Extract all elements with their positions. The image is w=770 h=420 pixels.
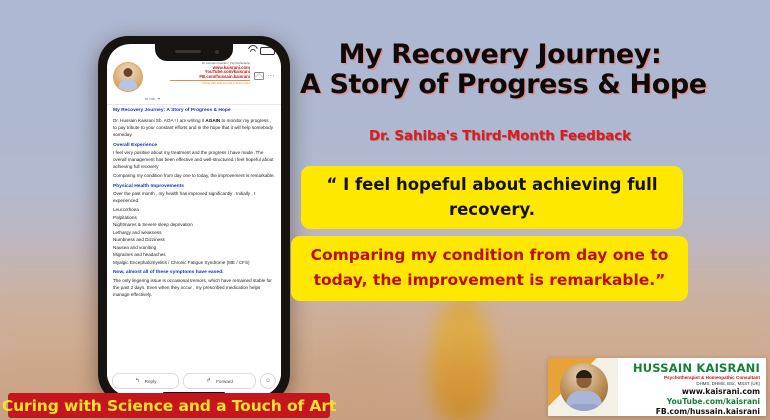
- page-title: My Recovery Journey: A Story of Progress…: [300, 40, 700, 100]
- overall-paragraph-1: I feel very positive about my treatment …: [113, 150, 275, 171]
- battery-icon: [260, 47, 275, 55]
- business-card-photo: [548, 358, 618, 416]
- avatar-head: [124, 68, 133, 77]
- card-degrees: DHMS, DHMS, BSc, MSST (UK): [620, 382, 760, 387]
- section-heading-overall: Overall Experience: [113, 142, 275, 149]
- overall-paragraph-2: Comparing my condition from day one to t…: [113, 173, 275, 180]
- list-item: Lethargy and weakness: [113, 230, 275, 237]
- headline-line-1: My Recovery Journey:: [300, 40, 700, 70]
- emoji-smiley-icon[interactable]: ☺: [260, 373, 276, 389]
- closing-paragraph: The only lingering issue is occasional t…: [113, 278, 275, 299]
- card-name: HUSSAIN KAISRANI: [620, 362, 760, 375]
- reply-button[interactable]: ↰ Reply: [112, 373, 179, 389]
- symptom-list: Leucorrhoea Palpitations Nightmares & Se…: [113, 207, 275, 266]
- email-action-bar: ↰ Reply ↱ Forward ☺: [107, 369, 281, 396]
- card-youtube[interactable]: YouTube.com/kaisrani: [620, 398, 760, 407]
- intro-text-a: Dr. Hussain Kaisrani Sb. AOA ! I am writ…: [113, 118, 205, 123]
- banner-facebook: FB.com/hussain.kaisrani: [147, 75, 250, 80]
- forward-arrow-icon: ↱: [207, 378, 212, 384]
- bottom-ribbon-label: Curing with Science and a Touch of Art: [2, 397, 336, 415]
- reply-button-label: Reply: [145, 379, 157, 384]
- banner-tagline: Curing with Science and a Touch of Art: [147, 82, 250, 85]
- email-recipient: to me: [145, 96, 155, 101]
- business-card-details: HUSSAIN KAISRANI Psychotherapist & Homeo…: [618, 358, 766, 416]
- avatar-body: [119, 79, 138, 91]
- chevron-down-icon[interactable]: ▾: [158, 96, 160, 101]
- email-recipient-row[interactable]: to me ▾: [107, 95, 281, 104]
- portrait-arms: [569, 404, 599, 411]
- list-item: Nightmares & Severe sleep deprivation: [113, 222, 275, 229]
- email-header-actions[interactable]: ⋯: [254, 62, 275, 80]
- page-subtitle: Dr. Sahiba's Third-Month Feedback: [300, 128, 700, 144]
- avatar: [113, 62, 143, 92]
- list-item: Numbness and Dizziness: [113, 237, 275, 244]
- forward-button[interactable]: ↱ Forward: [183, 373, 256, 389]
- card-role: Psychotherapist & Homeopathic Consultant: [620, 375, 760, 380]
- card-facebook[interactable]: FB.com/hussain.kaisrani: [620, 408, 760, 416]
- phone-screen: Dr. Hussain Kaisrani | Psychotherapist w…: [107, 44, 281, 396]
- reply-arrow-icon: ↰: [135, 378, 140, 384]
- quote-box-secondary: Comparing my condition from day one to t…: [291, 236, 688, 301]
- wifi-icon: [248, 48, 257, 55]
- portrait-photo: [560, 363, 608, 411]
- envelope-icon[interactable]: [254, 72, 264, 80]
- intro-emphasis: AGAIN: [205, 118, 220, 123]
- list-item: Migraines and headaches: [113, 252, 275, 259]
- business-card: HUSSAIN KAISRANI Psychotherapist & Homeo…: [548, 358, 766, 416]
- list-item: Palpitations: [113, 215, 275, 222]
- quote-box-primary: “ I feel hopeful about achieving full re…: [301, 166, 683, 229]
- header-divider: [107, 104, 281, 105]
- forward-button-label: Forward: [216, 379, 233, 384]
- headline-line-2: A Story of Progress & Hope: [300, 70, 700, 100]
- earpiece-speaker: [175, 50, 201, 53]
- card-website[interactable]: www.kaisrani.com: [620, 388, 760, 397]
- status-bar: [248, 47, 275, 55]
- bottom-ribbon: Curing with Science and a Touch of Art: [8, 393, 330, 418]
- phone-notch: [155, 44, 233, 61]
- front-camera: [215, 50, 219, 54]
- email-body: My Recovery Journey: A Story of Progress…: [107, 108, 281, 303]
- email-signature-banner: Dr. Hussain Kaisrani | Psychotherapist w…: [147, 62, 250, 85]
- poster-canvas: Dr. Hussain Kaisrani | Psychotherapist w…: [0, 0, 770, 420]
- portrait-hair: [576, 370, 592, 378]
- phone-mockup: Dr. Hussain Kaisrani | Psychotherapist w…: [98, 36, 290, 404]
- email-subject: My Recovery Journey: A Story of Progress…: [113, 108, 275, 115]
- symptoms-eased-heading: Now, almost all of these symptoms have e…: [113, 269, 275, 276]
- list-item: Leucorrhoea: [113, 207, 275, 214]
- list-item: Nausea and vomiting: [113, 245, 275, 252]
- section-heading-physical: Physical Health Improvements: [113, 183, 275, 190]
- list-item: Myalgic Encephalomyelitis / Chronic Fati…: [113, 260, 275, 267]
- more-options-icon[interactable]: ⋯: [267, 74, 275, 78]
- physical-intro: Over the past month , my health has impr…: [113, 191, 275, 205]
- email-intro-paragraph: Dr. Hussain Kaisrani Sb. AOA ! I am writ…: [113, 118, 275, 139]
